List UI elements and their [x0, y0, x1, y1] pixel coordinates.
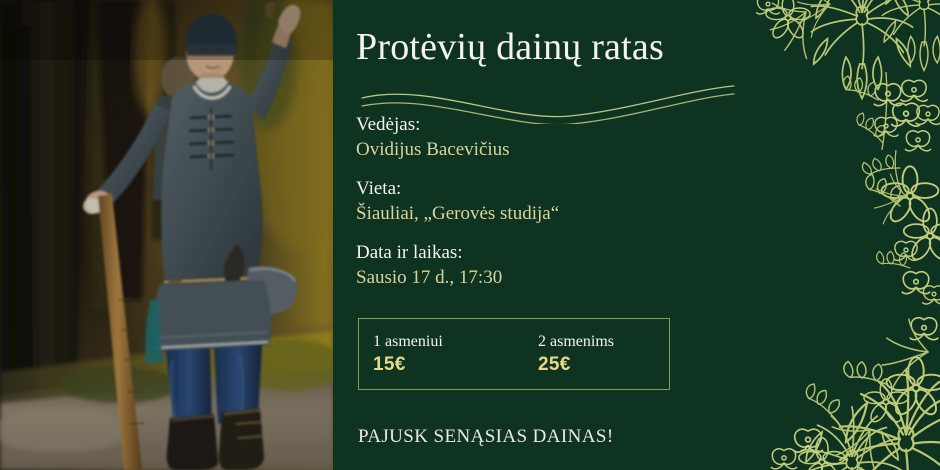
content-panel: Protėvių dainų ratas Vedėjas: Ovidijus B…: [333, 0, 940, 470]
price-option-double: 2 asmenims 25€: [514, 331, 655, 377]
event-photo: [0, 0, 333, 470]
photo-illustration: [0, 0, 333, 470]
detail-label-datetime: Data ir laikas:: [356, 240, 756, 265]
detail-datetime: Data ir laikas: Sausio 17 d., 17:30: [356, 240, 756, 291]
event-details: Vedėjas: Ovidijus Bacevičius Vieta: Šiau…: [356, 112, 756, 304]
detail-value-host: Ovidijus Bacevičius: [356, 137, 756, 163]
detail-venue: Vieta: Šiauliai, „Gerovės studija“: [356, 176, 756, 227]
poster-text-block: Protėvių dainų ratas Vedėjas: Ovidijus B…: [356, 0, 776, 470]
detail-host: Vedėjas: Ovidijus Bacevičius: [356, 112, 756, 163]
detail-label-host: Vedėjas:: [356, 112, 756, 137]
detail-label-venue: Vieta:: [356, 176, 756, 201]
detail-value-datetime: Sausio 17 d., 17:30: [356, 265, 756, 291]
tagline: PAJUSK SENĄSIAS DAINAS!: [358, 425, 614, 449]
detail-value-venue: Šiauliai, „Gerovės studija“: [356, 201, 756, 227]
price-label-double: 2 asmenims: [538, 331, 655, 352]
price-amount-single: 15€: [373, 352, 514, 377]
price-option-single: 1 asmeniui 15€: [373, 331, 514, 377]
price-amount-double: 25€: [538, 352, 655, 377]
page-title: Protėvių dainų ratas: [356, 24, 756, 70]
pricing-box: 1 asmeniui 15€ 2 asmenims 25€: [358, 318, 670, 390]
event-poster: Protėvių dainų ratas Vedėjas: Ovidijus B…: [0, 0, 940, 470]
price-label-single: 1 asmeniui: [373, 331, 514, 352]
